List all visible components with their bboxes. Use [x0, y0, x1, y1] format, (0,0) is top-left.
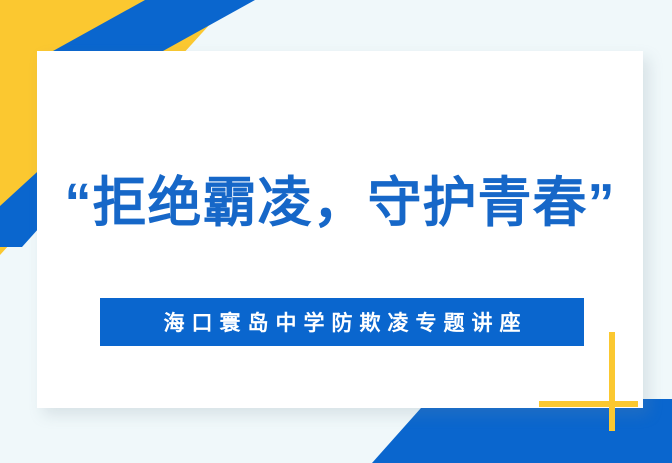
poster-card: “拒绝霸凌，守护青春” 海口寰岛中学防欺凌专题讲座 [37, 51, 643, 408]
poster-subtitle-banner: 海口寰岛中学防欺凌专题讲座 [100, 298, 584, 346]
yellow-cross-vertical-bar-icon [609, 332, 615, 431]
poster-subtitle-text: 海口寰岛中学防欺凌专题讲座 [157, 307, 528, 337]
poster-canvas: “拒绝霸凌，守护青春” 海口寰岛中学防欺凌专题讲座 [0, 0, 672, 463]
yellow-cross-horizontal-bar-icon [539, 401, 638, 407]
blue-diagonal-slab-bottom-shape [372, 399, 672, 463]
poster-main-title: “拒绝霸凌，守护青春” [37, 172, 643, 234]
